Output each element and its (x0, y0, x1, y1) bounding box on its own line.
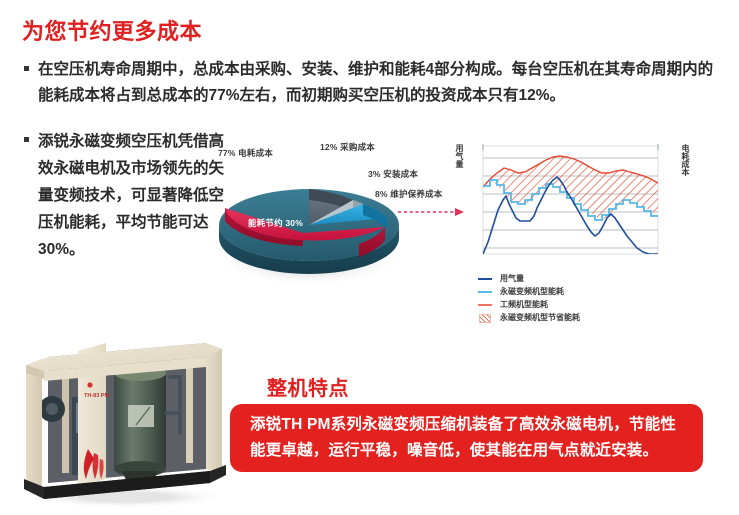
bullet-item-energy-saving: 添锐永磁变频空压机凭借高效永磁电机及市场领先的矢量变频技术，可显著降低空压机能耗… (24, 128, 229, 263)
pie-label-saving: 能耗节约 30% (248, 217, 303, 229)
legend-item-pm-vsd: 永磁变频机型能耗 (478, 285, 580, 298)
feature-banner-text: 添锐TH PM系列永磁变频压缩机装备了高效永磁电机，节能性能更卓越，运行平稳，噪… (230, 412, 703, 464)
product-front-post-left (26, 359, 42, 491)
legend-item-energy-saved: 永磁变频机型节省能耗 (478, 311, 580, 324)
product-fan-hub (46, 403, 58, 415)
line-chart-svg (455, 138, 690, 263)
bullet-text: 在空压机寿命周期中，总成本由采购、安装、维护和能耗4部分构成。每台空压机在其寿命… (38, 57, 724, 109)
pie-label-purchase: 12% 采购成本 (320, 141, 375, 153)
slide-canvas: 为您节约更多成本 在空压机寿命周期中，总成本由采购、安装、维护和能耗4部分构成。… (0, 0, 739, 515)
legend-item-fixed-frequency: 工频机型能耗 (478, 298, 580, 311)
legend-label: 永磁变频机型能耗 (500, 286, 564, 297)
product-photo-svg: TH-83 PM (10, 313, 238, 508)
product-panel-label: TH-83 PM (84, 393, 109, 399)
pie-label-electricity: 77% 电耗成本 (218, 147, 273, 159)
legend-label: 用气量 (500, 273, 524, 284)
bullet-square-icon (24, 137, 29, 142)
bullet-square-icon (24, 66, 29, 71)
pie-label-maintenance: 8% 维护保养成本 (375, 188, 442, 200)
product-front-post-right (206, 343, 222, 473)
legend-hatch-icon (478, 314, 492, 322)
pie-label-install: 3% 安装成本 (368, 168, 418, 180)
legend-line-icon (478, 288, 492, 296)
bullet-item-cost-breakdown: 在空压机寿命周期中，总成本由采购、安装、维护和能耗4部分构成。每台空压机在其寿命… (24, 57, 724, 109)
line-chart-y-axis-label: 用气量 (455, 144, 464, 168)
product-brand-mark-icon (87, 382, 92, 387)
legend-label: 工频机型能耗 (500, 299, 548, 310)
line-chart: 用气量 电耗成本 (455, 138, 690, 263)
line-chart-y2-axis-label: 电耗成本 (681, 144, 690, 176)
feature-banner: 添锐TH PM系列永磁变频压缩机装备了高效永磁电机，节能性能更卓越，运行平稳，噪… (230, 404, 703, 472)
legend-item-air-demand: 用气量 (478, 272, 580, 285)
line-chart-legend: 用气量 永磁变频机型能耗 工频机型能耗 永磁变频机型节省能耗 (478, 272, 580, 324)
legend-line-icon (478, 301, 492, 309)
legend-line-icon (478, 275, 492, 283)
bullet-text: 添锐永磁变频空压机凭借高效永磁电机及市场领先的矢量变频技术，可显著降低空压机能耗… (38, 128, 229, 263)
product-photo: TH-83 PM (10, 313, 238, 508)
product-tank (114, 365, 166, 489)
legend-label: 永磁变频机型节省能耗 (500, 312, 580, 323)
product-tank-label (128, 405, 154, 427)
section-title-features: 整机特点 (267, 372, 349, 401)
page-title: 为您节约更多成本 (22, 14, 202, 46)
